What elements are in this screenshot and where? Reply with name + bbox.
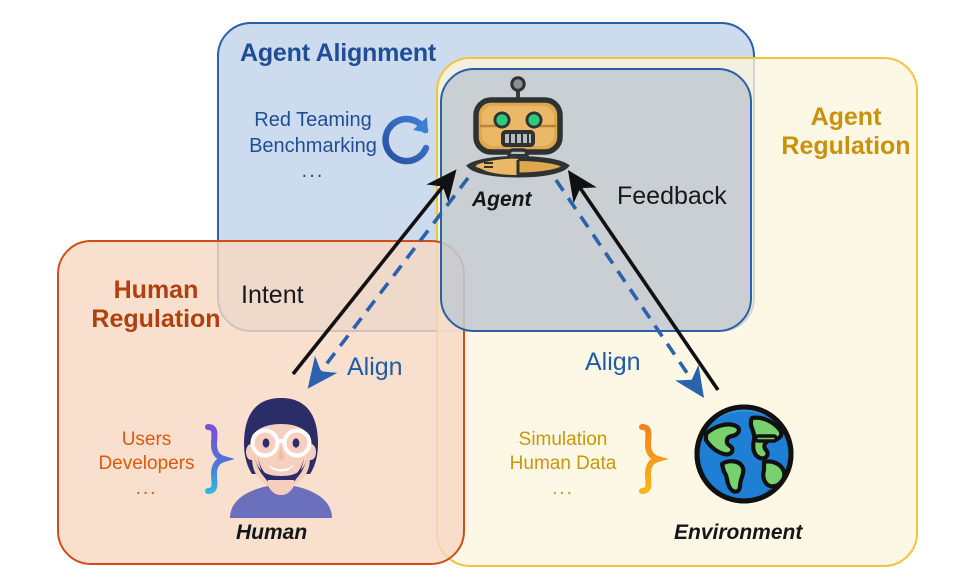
region-title-human-regulation-line2: Regulation (76, 305, 236, 334)
globe-icon (692, 402, 796, 506)
person-icon (218, 396, 344, 518)
edge-label-align-right: Align (585, 348, 641, 377)
descriptor-list-alignment: Red Teaming Benchmarking ... (228, 108, 398, 185)
edge-label-align-left: Align (347, 353, 403, 382)
descriptor-alignment-line1: Red Teaming (228, 108, 398, 134)
descriptor-human-line2: Developers (84, 452, 209, 476)
descriptor-alignment-ellipsis: ... (228, 159, 398, 185)
region-title-agent-alignment: Agent Alignment (240, 39, 436, 68)
region-title-agent-regulation: Agent Regulation (766, 103, 926, 161)
region-title-human-regulation: Human Regulation (76, 276, 236, 334)
descriptor-human-line1: Users (84, 428, 209, 452)
edge-label-feedback: Feedback (617, 182, 727, 211)
descriptor-list-environment: Simulation Human Data ... (487, 428, 639, 501)
descriptor-list-human: Users Developers ... (84, 428, 209, 501)
descriptor-alignment-line2: Benchmarking (228, 134, 398, 160)
curly-brace-icon-environment (634, 424, 668, 494)
region-title-agent-regulation-line2: Regulation (766, 132, 926, 161)
descriptor-human-ellipsis: ... (84, 477, 209, 501)
descriptor-environment-line2: Human Data (487, 452, 639, 476)
descriptor-environment-line1: Simulation (487, 428, 639, 452)
robot-icon (458, 76, 578, 184)
refresh-loop-icon (378, 108, 442, 172)
edge-label-intent: Intent (241, 281, 304, 310)
region-title-human-regulation-line1: Human (76, 276, 236, 305)
node-label-human: Human (236, 521, 307, 545)
descriptor-environment-ellipsis: ... (487, 477, 639, 501)
diagram-canvas: Agent Alignment Agent Regulation Human R… (0, 0, 975, 588)
region-title-agent-regulation-line1: Agent (766, 103, 926, 132)
node-label-agent: Agent (472, 188, 532, 212)
node-label-environment: Environment (674, 521, 802, 545)
